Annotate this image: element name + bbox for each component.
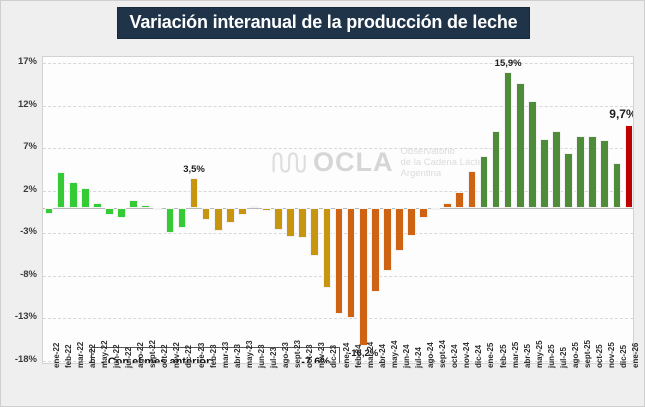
bar-sept-23: [286, 208, 295, 237]
watermark-brand: OCLA: [313, 149, 394, 175]
bar-oct-22: [153, 208, 162, 210]
bar-jul-23: [262, 208, 271, 211]
y-axis-tick-label: -3%: [1, 226, 37, 237]
bar-abr-23: [226, 208, 235, 223]
x-axis-tick-label: dic-22: [184, 345, 193, 368]
bar-ene-26: [625, 125, 634, 208]
ocla-logo-icon: [271, 149, 309, 175]
bar-mar-24: [359, 208, 368, 346]
bar-may-23: [238, 208, 247, 215]
bar-ago-22: [129, 200, 138, 208]
bar-jul-25: [552, 131, 561, 208]
data-label-ene-26: 9,7%: [601, 107, 634, 121]
x-axis-tick-label: nov-24: [462, 342, 471, 368]
bar-nov-22: [166, 208, 175, 234]
watermark: OCLA Observatorio de la Cadena Láctea Ar…: [271, 145, 488, 179]
x-axis-tick-label: sept-25: [583, 340, 592, 368]
bar-feb-25: [492, 131, 501, 208]
bar-feb-23: [202, 208, 211, 220]
x-axis-tick-label: jun-22: [112, 344, 121, 368]
x-axis-tick-label: mar-25: [511, 342, 520, 368]
watermark-line-2: de la Cadena Láctea: [401, 157, 489, 168]
bar-mar-25: [504, 72, 513, 207]
bar-oct-25: [588, 136, 597, 208]
chart-screenshot: Variación interanual de la producción de…: [0, 0, 645, 407]
x-axis-tick-label: dic-24: [474, 345, 483, 368]
x-axis-tick-label: sept-23: [293, 340, 302, 368]
x-axis-tick-label: oct-24: [450, 344, 459, 368]
bar-jun-25: [540, 139, 549, 208]
x-axis-tick-label: sept-22: [148, 340, 157, 368]
x-axis-tick-label: ago-24: [426, 342, 435, 368]
x-axis-tick-label: jul-23: [269, 347, 278, 368]
x-axis-tick-label: may-22: [100, 340, 109, 368]
bar-may-24: [383, 208, 392, 271]
x-axis-tick-label: oct-25: [595, 344, 604, 368]
bar-jun-24: [395, 208, 404, 251]
x-axis-tick-label: ago-22: [136, 342, 145, 368]
x-axis-tick-label: sept-24: [438, 340, 447, 368]
x-axis-tick-label: dic-25: [619, 345, 628, 368]
bar-dic-23: [323, 208, 332, 288]
x-axis-tick-label: ene-26: [631, 343, 640, 368]
bar-ene-25: [480, 156, 489, 208]
x-axis-tick-label: ago-25: [571, 342, 580, 368]
x-axis-tick-label: abr-25: [523, 344, 532, 368]
x-axis-tick-label: nov-23: [317, 342, 326, 368]
x-axis-tick-label: jun-23: [257, 344, 266, 368]
data-label-mar-25: 15,9%: [490, 58, 526, 69]
y-axis-tick-label: -18%: [1, 354, 37, 365]
y-axis-tick-label: -13%: [1, 311, 37, 322]
x-axis-tick-label: oct-22: [160, 344, 169, 368]
bar-oct-23: [298, 208, 307, 239]
gridline: [43, 318, 633, 319]
x-axis-tick-label: may-24: [390, 340, 399, 368]
x-axis-tick-label: dic-23: [329, 345, 338, 368]
bar-nov-25: [600, 140, 609, 208]
x-axis-tick-label: nov-22: [172, 342, 181, 368]
x-axis-tick-label: mar-22: [76, 342, 85, 368]
x-axis-tick-label: jun-25: [547, 344, 556, 368]
bar-abr-22: [81, 188, 90, 208]
bar-sept-22: [141, 205, 150, 208]
x-axis-tick-label: mar-24: [366, 342, 375, 368]
bar-abr-24: [371, 208, 380, 292]
y-axis-tick-label: -8%: [1, 269, 37, 280]
x-axis-tick-label: ago-23: [281, 342, 290, 368]
y-axis-tick-label: 17%: [1, 56, 37, 67]
plot-area: OCLA Observatorio de la Cadena Láctea Ar…: [42, 56, 634, 364]
x-axis-tick-label: ene-22: [52, 343, 61, 368]
x-axis-tick-label: jul-25: [559, 347, 568, 368]
x-axis-tick-label: nov-25: [607, 342, 616, 368]
bar-feb-22: [57, 172, 66, 208]
chart-title-container: Variación interanual de la producción de…: [1, 7, 645, 39]
bar-jun-23: [250, 206, 259, 208]
x-axis-tick-label: ene-24: [342, 343, 351, 368]
bar-sept-25: [576, 136, 585, 208]
bar-mar-23: [214, 208, 223, 231]
bar-mar-22: [69, 182, 78, 208]
y-axis-tick-label: 7%: [1, 141, 37, 152]
bar-ene-22: [45, 208, 54, 214]
bar-ago-23: [274, 208, 283, 230]
gridline: [43, 106, 633, 107]
y-axis-tick-label: 2%: [1, 184, 37, 195]
x-axis-tick-label: may-23: [245, 340, 254, 368]
x-axis-tick-label: oct-23: [305, 344, 314, 368]
bar-nov-23: [310, 208, 319, 257]
bar-ago-25: [564, 153, 573, 207]
bar-dic-24: [468, 171, 477, 208]
x-axis-tick-label: ene-23: [197, 343, 206, 368]
bar-may-22: [93, 203, 102, 207]
x-axis-tick-label: abr-24: [378, 344, 387, 368]
x-axis-tick-label: abr-22: [88, 344, 97, 368]
x-axis-tick-label: jul-24: [414, 347, 423, 368]
bar-jun-22: [105, 208, 114, 215]
chart-title: Variación interanual de la producción de…: [117, 7, 531, 39]
bar-dic-25: [613, 163, 622, 207]
x-axis-tick-label: jun-24: [402, 344, 411, 368]
bar-nov-24: [455, 192, 464, 207]
bar-jul-22: [117, 208, 126, 218]
x-axis-tick-label: feb-23: [209, 344, 218, 368]
y-axis-tick-label: 12%: [1, 99, 37, 110]
bar-ene-23: [190, 178, 199, 208]
x-axis-tick-label: ene-25: [486, 343, 495, 368]
x-axis-tick-label: abr-23: [233, 344, 242, 368]
bar-feb-24: [347, 208, 356, 318]
x-axis-tick-label: may-25: [535, 340, 544, 368]
bar-may-25: [528, 101, 537, 207]
bar-jul-24: [407, 208, 416, 236]
x-axis-tick-label: feb-24: [354, 344, 363, 368]
bar-oct-24: [443, 203, 452, 208]
x-axis-tick-label: feb-25: [499, 344, 508, 368]
bar-sept-24: [431, 208, 440, 210]
x-axis-tick-label: jul-22: [124, 347, 133, 368]
bar-dic-22: [178, 208, 187, 228]
bar-abr-25: [516, 83, 525, 207]
bar-ene-24: [335, 208, 344, 314]
bar-ago-24: [419, 208, 428, 218]
x-axis-tick-label: mar-23: [221, 342, 230, 368]
data-label-ene-23: 3,5%: [176, 164, 212, 175]
x-axis-tick-label: feb-22: [64, 344, 73, 368]
gridline: [43, 63, 633, 64]
